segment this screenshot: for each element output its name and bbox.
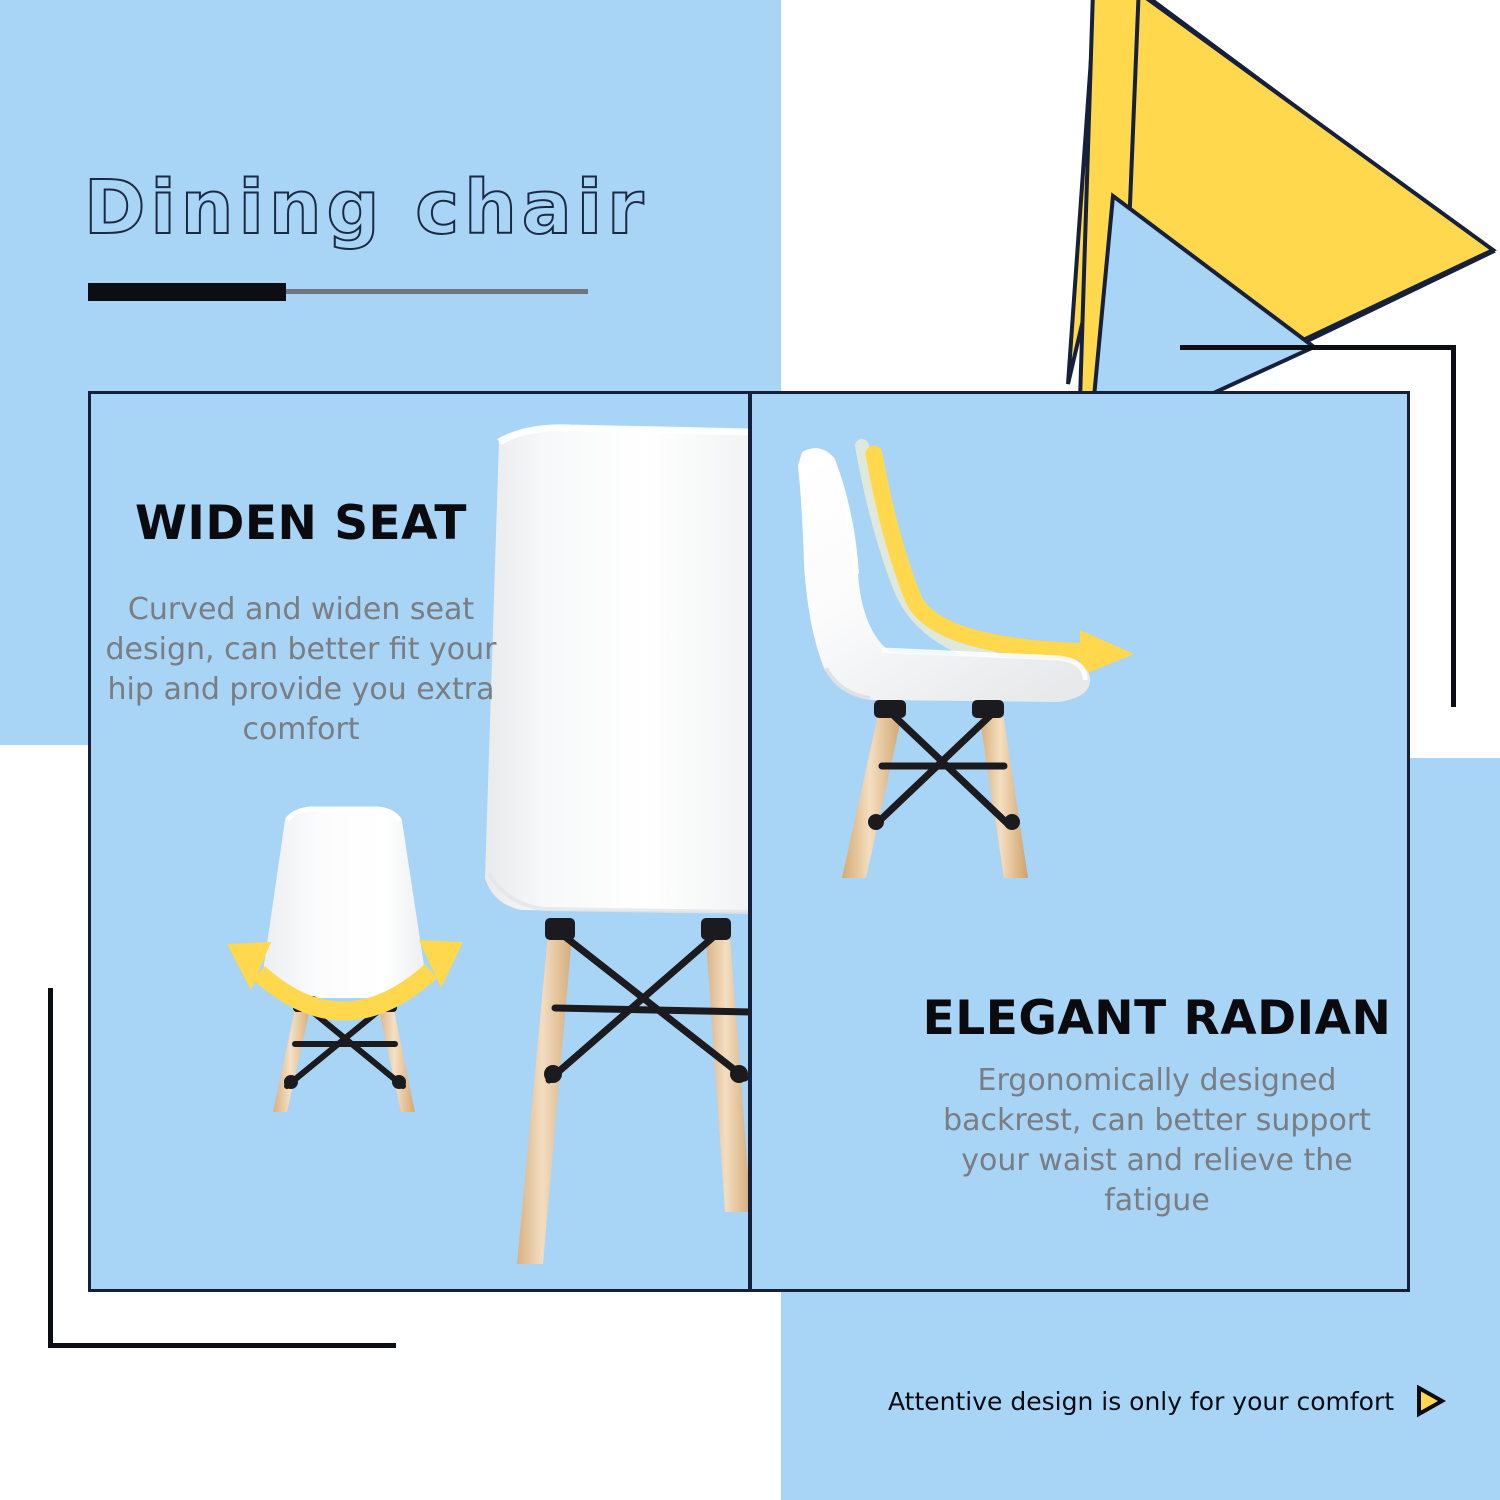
footer-tagline-row: Attentive design is only for your comfor… [888, 1384, 1446, 1418]
chair-brace-caps [284, 996, 406, 1089]
chair-leg-rear [978, 706, 1028, 878]
rule-segment-track [286, 289, 588, 294]
ergonomic-contour-arrow [874, 454, 1134, 676]
chair-shell [263, 807, 425, 998]
yellow-arrow-stem [1080, 0, 1140, 400]
infographic-canvas: Dining chair [0, 0, 1500, 1500]
bracket-line-horizontal [1180, 345, 1456, 350]
widen-seat-body: Curved and widen seat design, can better… [91, 590, 511, 750]
chair-wire-brace [874, 712, 1010, 826]
chair-leg-left [517, 924, 573, 1264]
elegant-radian-text-block: ELEGANT RADIAN Ergonomically designed ba… [907, 994, 1407, 1221]
chair-brace-caps [868, 700, 1020, 830]
contour-ghost [862, 446, 992, 658]
dining-chair-side-view [762, 414, 1192, 884]
bracket-line-vertical [48, 988, 53, 1348]
chair-shell-profile [798, 448, 1090, 702]
chair-wire-brace [287, 1004, 403, 1086]
play-triangle-icon[interactable] [1412, 1384, 1446, 1418]
chair-leg-left [273, 1000, 312, 1112]
chair-leg-right [377, 1000, 415, 1112]
pane-widen-seat: WIDEN SEAT Curved and widen seat design,… [91, 394, 748, 1289]
page-title: Dining chair [84, 165, 649, 251]
pane-elegant-radian: ELEGANT RADIAN Ergonomically designed ba… [752, 394, 1409, 1289]
bracket-line-horizontal [48, 1343, 396, 1348]
dining-chair-front-view-small [211, 794, 481, 1124]
elegant-radian-heading: ELEGANT RADIAN [907, 994, 1407, 1043]
chair-shell [485, 426, 751, 912]
chair-wire-brace [549, 932, 751, 1080]
rule-segment-filled [88, 283, 286, 301]
progress-rule [88, 283, 588, 301]
chair-leg-front [842, 706, 904, 878]
chair-brace-caps [544, 918, 748, 1083]
bracket-line-vertical [1451, 345, 1456, 707]
widen-seat-heading: WIDEN SEAT [91, 499, 511, 548]
elegant-radian-body: Ergonomically designed backrest, can bet… [907, 1061, 1407, 1221]
footer-tagline: Attentive design is only for your comfor… [888, 1387, 1394, 1416]
chair-leg-right [705, 924, 751, 1212]
double-headed-curved-arrow [227, 940, 463, 1021]
feature-panel: WIDEN SEAT Curved and widen seat design,… [88, 391, 1410, 1292]
widen-seat-text-block: WIDEN SEAT Curved and widen seat design,… [91, 499, 511, 750]
